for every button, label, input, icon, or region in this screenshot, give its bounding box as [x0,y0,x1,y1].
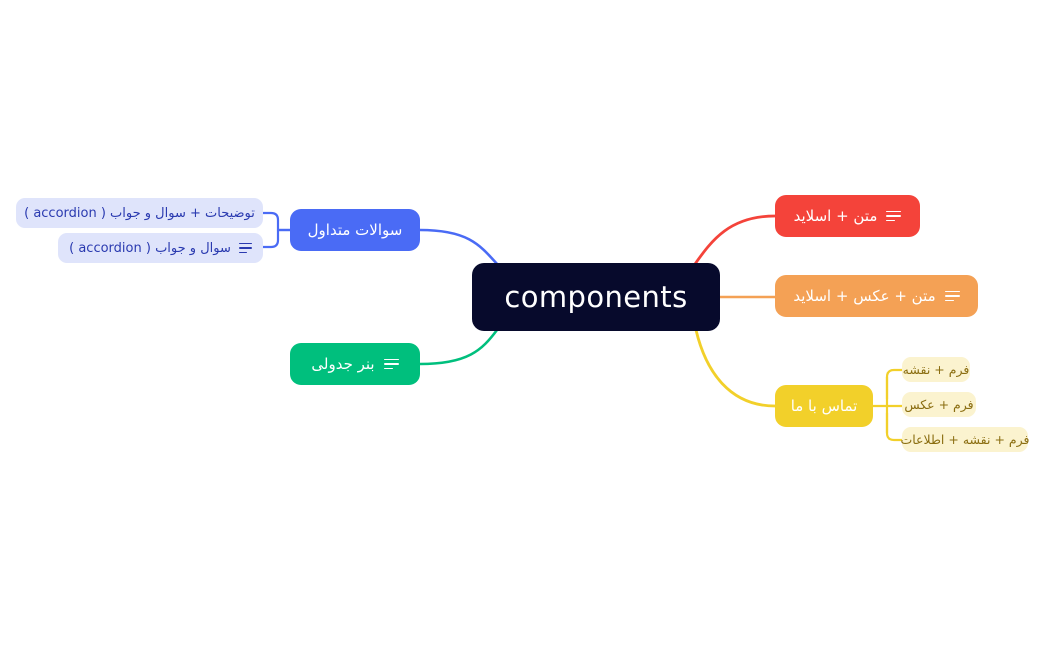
note-lines-icon [886,211,901,222]
branch-node-table-banner-label: بنر جدولی [311,355,374,373]
edge-root-contact-us [696,330,775,406]
leaf-node-form-map-label: فرم + نقشه [903,362,970,377]
note-lines-icon [945,291,960,302]
mindmap-canvas: components سوالات متداول توضیحات + سوال … [0,0,1048,650]
edge-bracket-contact-us-mid [873,377,902,433]
branch-node-faq[interactable]: سوالات متداول [290,209,420,251]
root-node-components[interactable]: components [472,263,720,331]
branch-node-contact-us[interactable]: تماس با ما [775,385,873,427]
leaf-node-faq-description-qa-label: توضیحات + سوال و جواب ( accordion ) [24,206,255,221]
leaf-node-form-image[interactable]: فرم + عکس [902,392,976,417]
branch-node-text-image-slider[interactable]: متن + عکس + اسلاید [775,275,978,317]
leaf-node-form-image-label: فرم + عکس [904,397,973,412]
branch-node-text-slider-label: متن + اسلاید [794,207,878,225]
leaf-node-form-map[interactable]: فرم + نقشه [902,357,970,382]
note-lines-icon [239,243,252,254]
edge-root-faq [420,230,497,264]
leaf-node-faq-description-qa[interactable]: توضیحات + سوال و جواب ( accordion ) [16,198,263,228]
branch-node-contact-us-label: تماس با ما [791,397,858,415]
leaf-node-faq-qa-label: سوال و جواب ( accordion ) [69,241,231,256]
branch-node-faq-label: سوالات متداول [308,221,403,239]
leaf-node-form-map-info-label: فرم + نقشه + اطلاعات [900,432,1029,447]
note-lines-icon [384,359,399,370]
edge-root-text-slider [695,216,775,264]
branch-node-table-banner[interactable]: بنر جدولی [290,343,420,385]
edge-bracket-contact-us [887,370,902,440]
leaf-node-form-map-info[interactable]: فرم + نقشه + اطلاعات [902,427,1028,452]
branch-node-text-image-slider-label: متن + عکس + اسلاید [793,287,935,305]
branch-node-text-slider[interactable]: متن + اسلاید [775,195,920,237]
edge-root-table-banner [420,330,497,364]
root-node-label: components [504,280,687,314]
edge-bracket-faq [263,213,290,247]
leaf-node-faq-qa[interactable]: سوال و جواب ( accordion ) [58,233,263,263]
